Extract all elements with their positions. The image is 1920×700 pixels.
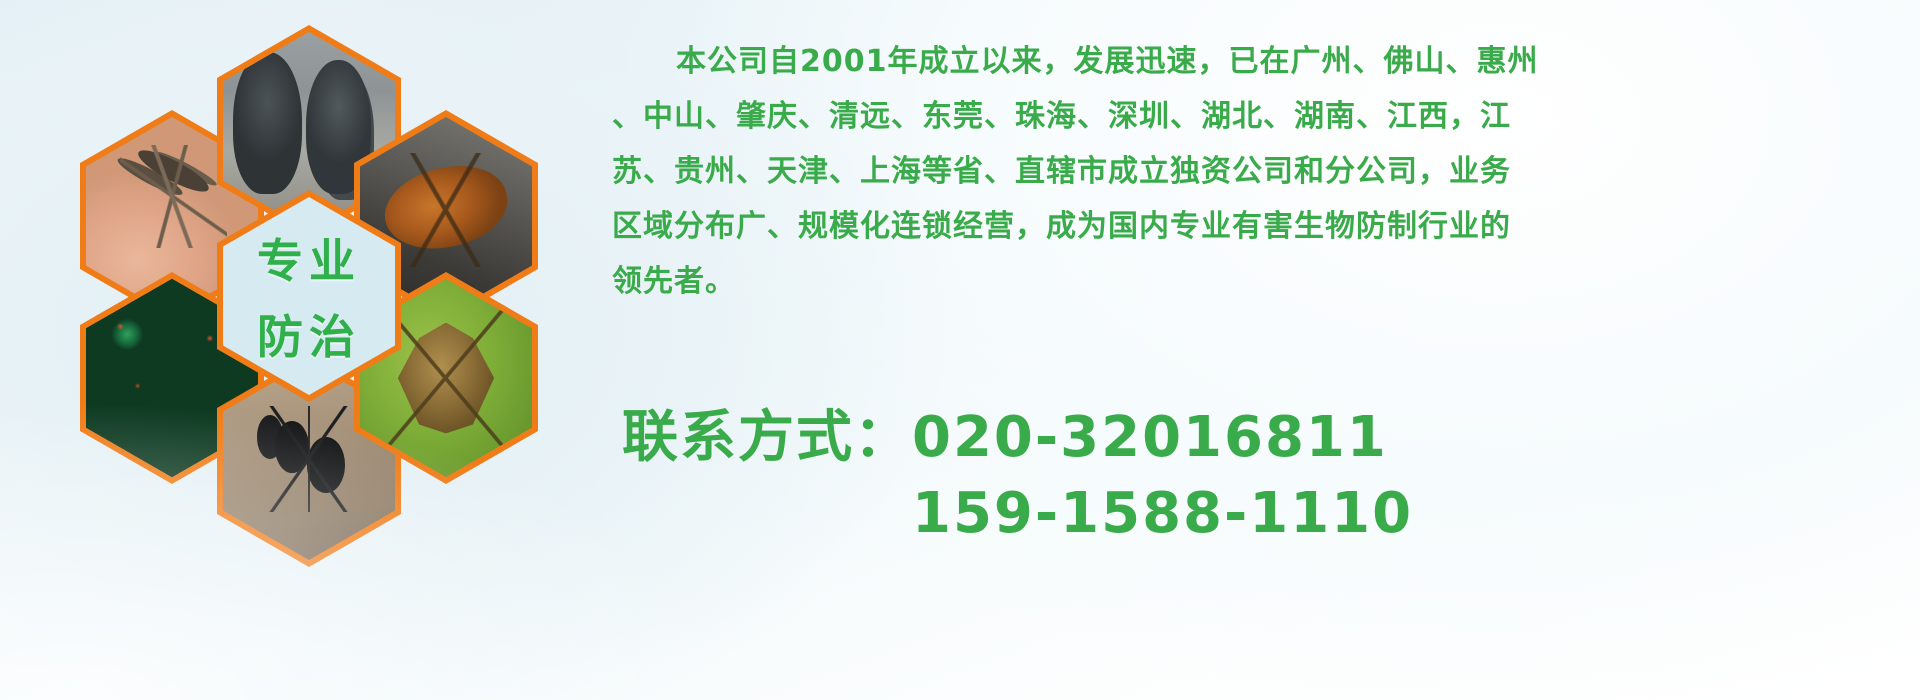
honeycomb-cluster: 专业 防治 — [60, 0, 600, 580]
intro-line: 苏、贵州、天津、上海等省、直辖市成立独资公司和分公司，业务 — [612, 144, 1852, 199]
hex-slogan-frame: 专业 防治 — [223, 197, 395, 395]
promo-banner: 专业 防治 本公司自2001年成立以来，发展迅速，已在广州、佛山、惠州 、中山、… — [0, 0, 1920, 700]
intro-line: 本公司自2001年成立以来，发展迅速，已在广州、佛山、惠州 — [612, 34, 1852, 89]
slogan-line-2: 防治 — [257, 301, 361, 367]
intro-line: 区域分布广、规模化连锁经营，成为国内专业有害生物防制行业的 — [612, 199, 1852, 254]
company-intro: 本公司自2001年成立以来，发展迅速，已在广州、佛山、惠州 、中山、肇庆、清远、… — [612, 34, 1852, 309]
slogan-text: 专业 防治 — [223, 197, 395, 395]
slogan-line-1: 专业 — [257, 225, 361, 291]
intro-line: 领先者。 — [612, 254, 1852, 309]
contact-block: 联系方式：020-32016811 159-1588-1110 — [622, 400, 1862, 552]
intro-line: 、中山、肇庆、清远、东莞、珠海、深圳、湖北、湖南、江西，江 — [612, 89, 1852, 144]
contact-phone-primary[interactable]: 联系方式：020-32016811 — [622, 400, 1862, 476]
contact-phone-secondary[interactable]: 159-1588-1110 — [622, 476, 1862, 552]
